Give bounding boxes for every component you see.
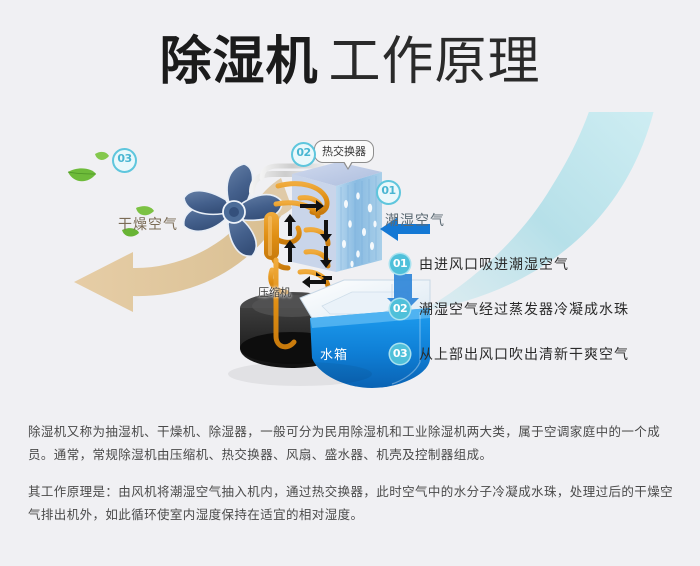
legend-badge-01: 01 — [390, 254, 410, 274]
legend-text-03: 从上部出风口吹出清新干爽空气 — [419, 344, 629, 364]
diagram-badge-01: 01 — [376, 180, 401, 205]
ground-shadow — [228, 362, 372, 386]
diagram-badge-02: 02 — [291, 142, 316, 167]
heat-exchanger-block — [292, 162, 382, 272]
legend-item: 01 由进风口吸进潮湿空气 — [390, 253, 690, 275]
callout-heat-exchanger: 热交换器 — [314, 140, 374, 163]
legend-text-02: 潮湿空气经过蒸发器冷凝成水珠 — [419, 299, 629, 319]
legend-item: 03 从上部出风口吹出清新干爽空气 — [390, 343, 690, 365]
diagram-label-humid-air: 潮湿空气 — [385, 210, 445, 230]
callout-tail — [343, 162, 353, 170]
callout-heat-exchanger-label: 热交换器 — [322, 145, 366, 158]
page-root: 除湿机工作原理 — [0, 0, 700, 566]
body-paragraph-2: 其工作原理是：由风机将潮湿空气抽入机内，通过热交换器，此时空气中的水分子冷凝成水… — [28, 480, 678, 526]
legend-badge-02: 02 — [390, 299, 410, 319]
body-paragraph-1: 除湿机又称为抽湿机、干燥机、除湿器，一般可分为民用除湿机和工业除湿机两大类，属于… — [28, 420, 678, 466]
diagram-badge-03: 03 — [112, 148, 137, 173]
body-copy: 除湿机又称为抽湿机、干燥机、除湿器，一般可分为民用除湿机和工业除湿机两大类，属于… — [28, 420, 678, 526]
legend-badge-03: 03 — [390, 344, 410, 364]
diagram-label-dry-air: 干燥空气 — [118, 214, 178, 234]
diagram-label-compressor: 压缩机 — [258, 284, 291, 300]
diagram-label-water-tank: 水箱 — [320, 344, 348, 363]
accumulator-cylinder — [264, 212, 279, 260]
legend-text-01: 由进风口吸进潮湿空气 — [419, 254, 569, 274]
legend-list: 01 由进风口吸进潮湿空气 02 潮湿空气经过蒸发器冷凝成水珠 03 从上部出风… — [390, 253, 690, 388]
page-title: 除湿机工作原理 — [0, 32, 700, 92]
page-title-secondary: 工作原理 — [329, 32, 541, 92]
page-title-primary: 除湿机 — [159, 32, 318, 92]
legend-item: 02 潮湿空气经过蒸发器冷凝成水珠 — [390, 298, 690, 320]
